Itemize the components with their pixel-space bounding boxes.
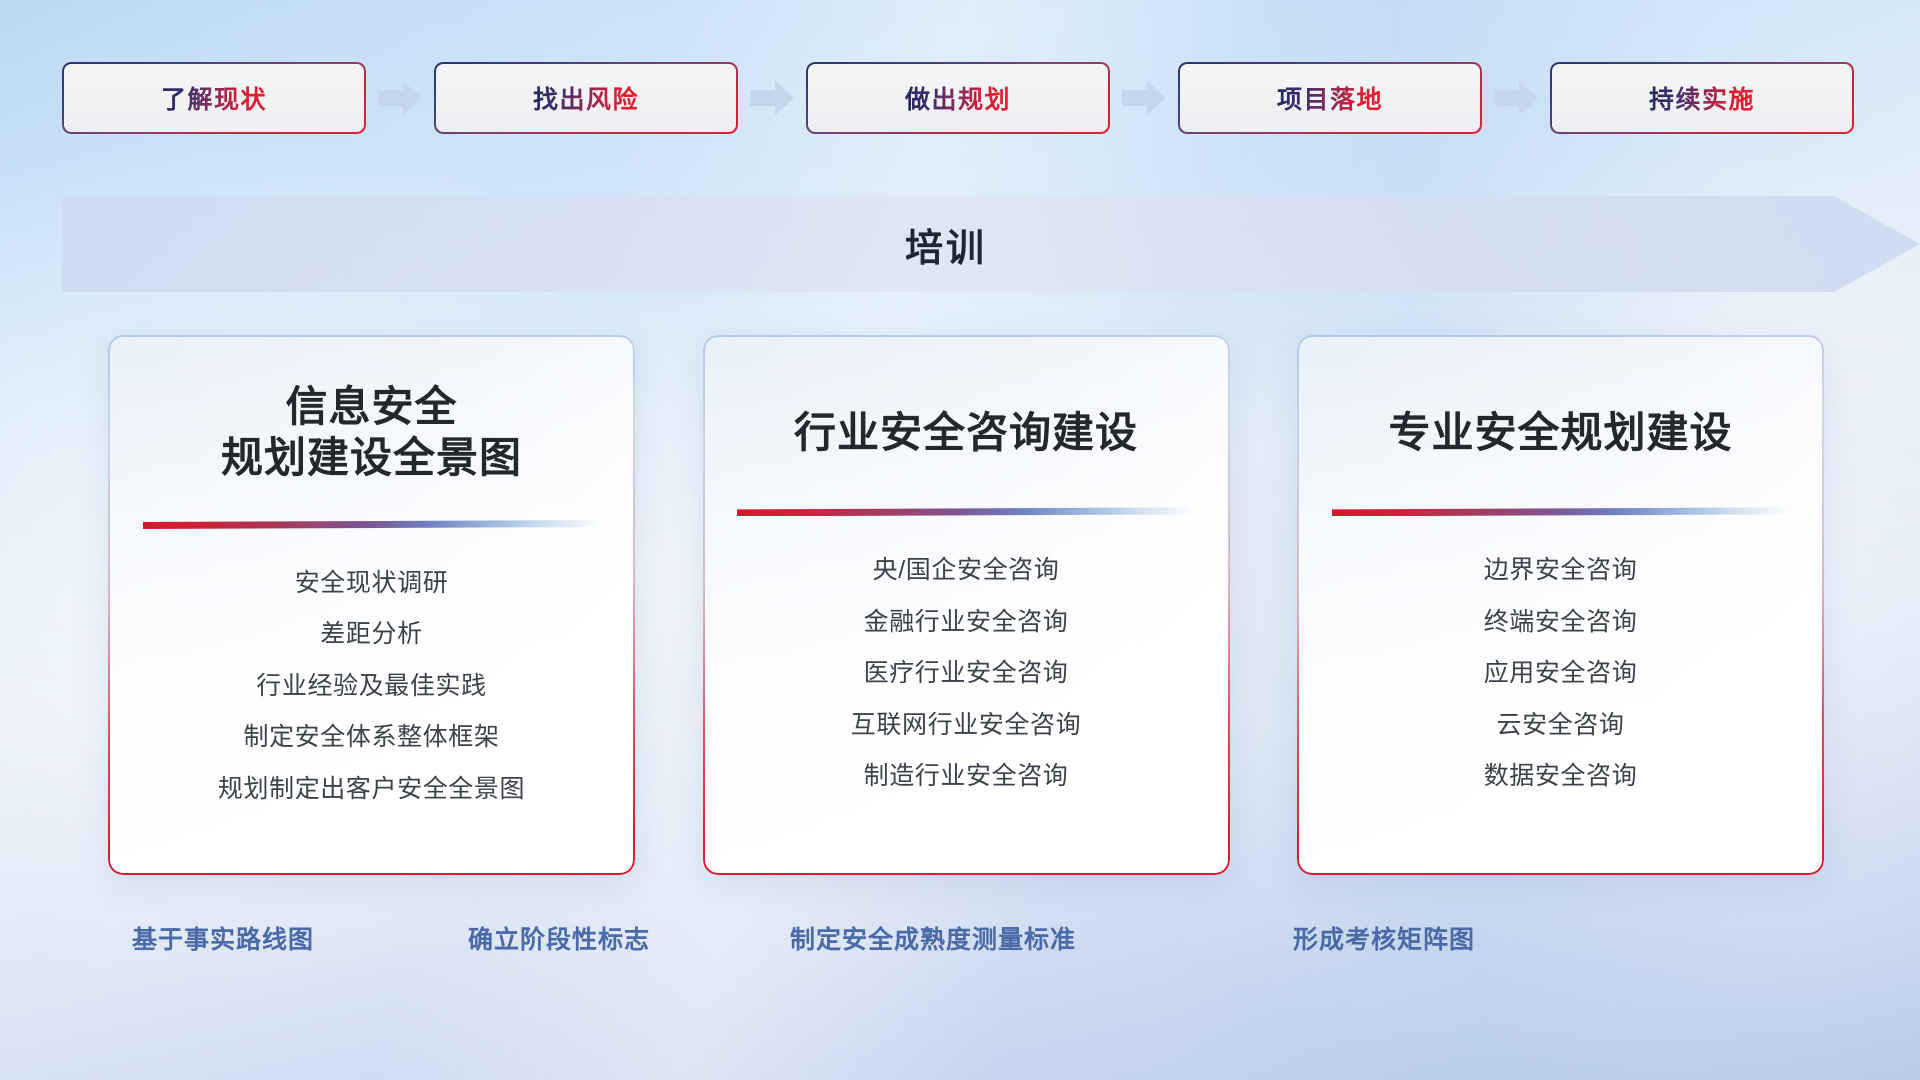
footer-label-3: 制定安全成熟度测量标准 xyxy=(790,920,1076,956)
card-list-item[interactable]: 差距分析 xyxy=(320,616,422,654)
card-title-wrap: 行业安全咨询建设 xyxy=(737,379,1196,458)
card-title-wrap: 专业安全规划建设 xyxy=(1331,379,1790,458)
slide-canvas: 了解现状找出风险做出规划项目落地持续实施 培训 信息安全 规划建设全景图安全现状… xyxy=(0,0,1920,1080)
banner-label: 培训 xyxy=(62,196,1830,292)
card-divider xyxy=(737,507,1195,516)
card-list-item[interactable]: 数据安全咨询 xyxy=(1484,758,1638,796)
card-divider xyxy=(143,520,601,529)
process-step-strip: 了解现状找出风险做出规划项目落地持续实施 xyxy=(62,62,1858,134)
card-title-wrap: 信息安全 规划建设全景图 xyxy=(142,379,601,483)
card-list-item[interactable]: 行业经验及最佳实践 xyxy=(256,668,486,706)
step-box-1[interactable]: 了解现状 xyxy=(62,62,366,134)
step-arrow-icon xyxy=(366,78,434,118)
step-label: 做出规划 xyxy=(905,80,1011,116)
card-list-item[interactable]: 金融行业安全咨询 xyxy=(864,604,1069,642)
step-arrow-icon xyxy=(1110,78,1178,118)
card-list-item[interactable]: 云安全咨询 xyxy=(1496,707,1624,745)
step-arrow-icon xyxy=(1482,78,1550,118)
service-card-2[interactable]: 行业安全咨询建设央/国企安全咨询金融行业安全咨询医疗行业安全咨询互联网行业安全咨… xyxy=(703,335,1230,875)
service-card-1[interactable]: 信息安全 规划建设全景图安全现状调研差距分析行业经验及最佳实践制定安全体系整体框… xyxy=(108,335,635,875)
card-title: 信息安全 规划建设全景图 xyxy=(221,381,522,483)
card-list-item[interactable]: 制定安全体系整体框架 xyxy=(243,719,499,757)
footer-label-4: 形成考核矩阵图 xyxy=(1293,920,1475,956)
card-title: 行业安全咨询建设 xyxy=(794,407,1138,458)
step-arrow-icon xyxy=(738,78,806,118)
card-list-item[interactable]: 边界安全咨询 xyxy=(1484,552,1638,590)
card-item-list: 安全现状调研差距分析行业经验及最佳实践制定安全体系整体框架规划制定出客户安全全景… xyxy=(142,565,601,809)
card-divider xyxy=(1332,507,1790,516)
card-list-item[interactable]: 终端安全咨询 xyxy=(1484,604,1638,642)
step-label: 项目落地 xyxy=(1277,80,1383,116)
card-list-item[interactable]: 规划制定出客户安全全景图 xyxy=(218,771,525,809)
card-list-item[interactable]: 应用安全咨询 xyxy=(1484,655,1638,693)
step-label: 了解现状 xyxy=(161,80,267,116)
card-title: 专业安全规划建设 xyxy=(1388,407,1732,458)
card-row: 信息安全 规划建设全景图安全现状调研差距分析行业经验及最佳实践制定安全体系整体框… xyxy=(108,335,1824,875)
footer-label-1: 基于事实路线图 xyxy=(132,920,314,956)
card-list-item[interactable]: 制造行业安全咨询 xyxy=(864,758,1069,796)
card-list-item[interactable]: 安全现状调研 xyxy=(295,565,449,603)
step-label: 找出风险 xyxy=(533,80,639,116)
card-list-item[interactable]: 医疗行业安全咨询 xyxy=(864,655,1069,693)
step-box-3[interactable]: 做出规划 xyxy=(806,62,1110,134)
training-banner: 培训 xyxy=(62,196,1920,292)
card-item-list: 央/国企安全咨询金融行业安全咨询医疗行业安全咨询互联网行业安全咨询制造行业安全咨… xyxy=(737,552,1196,796)
card-item-list: 边界安全咨询终端安全咨询应用安全咨询云安全咨询数据安全咨询 xyxy=(1331,552,1790,796)
service-card-3[interactable]: 专业安全规划建设边界安全咨询终端安全咨询应用安全咨询云安全咨询数据安全咨询 xyxy=(1297,335,1824,875)
footer-label-row: 基于事实路线图确立阶段性标志制定安全成熟度测量标准形成考核矩阵图 xyxy=(0,920,1920,972)
step-box-5[interactable]: 持续实施 xyxy=(1550,62,1854,134)
step-box-2[interactable]: 找出风险 xyxy=(434,62,738,134)
step-label: 持续实施 xyxy=(1649,80,1755,116)
card-list-item[interactable]: 央/国企安全咨询 xyxy=(873,552,1060,590)
step-box-4[interactable]: 项目落地 xyxy=(1178,62,1482,134)
card-list-item[interactable]: 互联网行业安全咨询 xyxy=(851,707,1081,745)
footer-label-2: 确立阶段性标志 xyxy=(468,920,650,956)
